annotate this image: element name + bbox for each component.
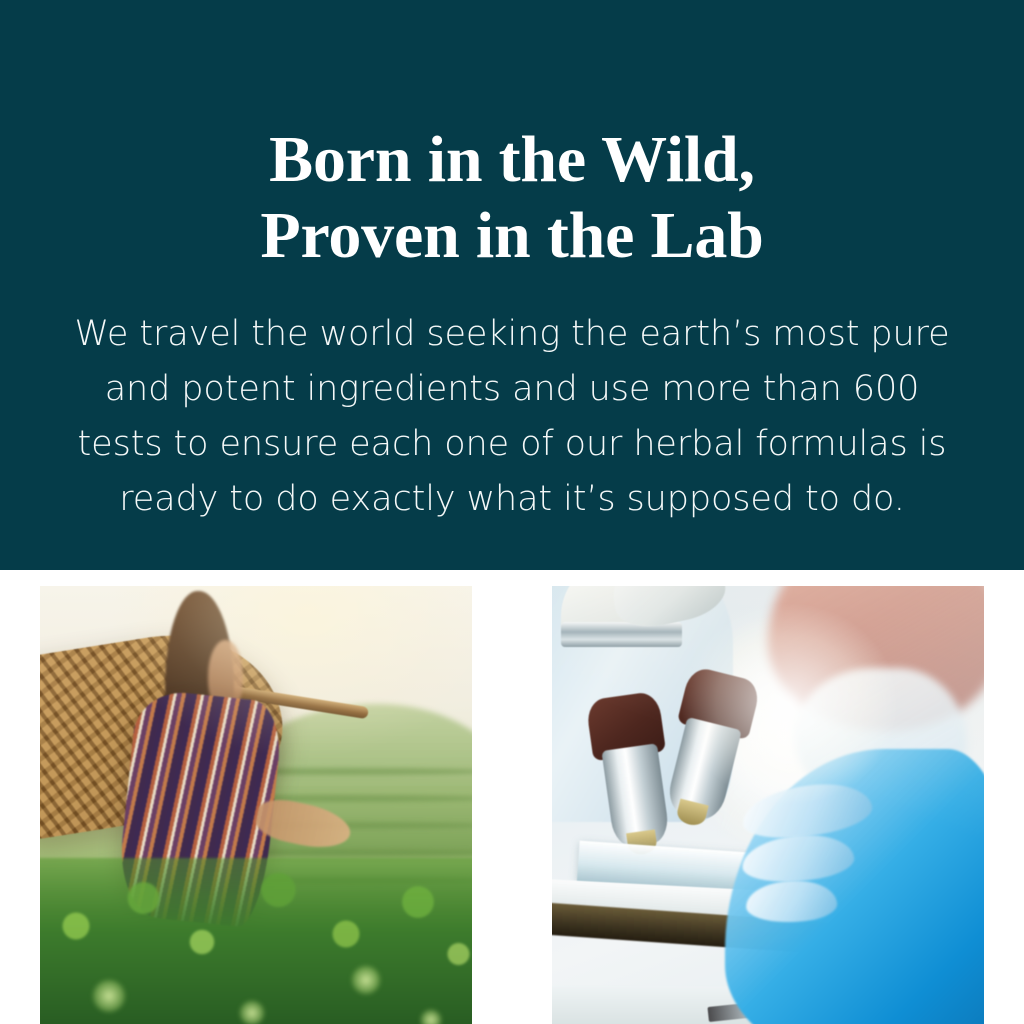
photo-lab-microscope: Scientist in mask and blue nitrile glove… [552,586,984,1024]
promo-banner: Born in the Wild, Proven in the Lab We t… [0,0,1024,1024]
bokeh-light [239,1000,265,1024]
hero-section: Born in the Wild, Proven in the Lab We t… [0,0,1024,570]
bokeh-light [92,979,126,1013]
page-title: Born in the Wild, Proven in the Lab [0,122,1024,274]
hero-body-copy: We travel the world seeking the earth’s … [62,307,962,527]
photo-wild-harvest: Woman harvesting tea leaves with a woven… [40,586,472,1024]
bokeh-light [351,965,381,995]
microscope-ring [561,622,682,647]
photo-strip: Woman harvesting tea leaves with a woven… [0,570,1024,1024]
